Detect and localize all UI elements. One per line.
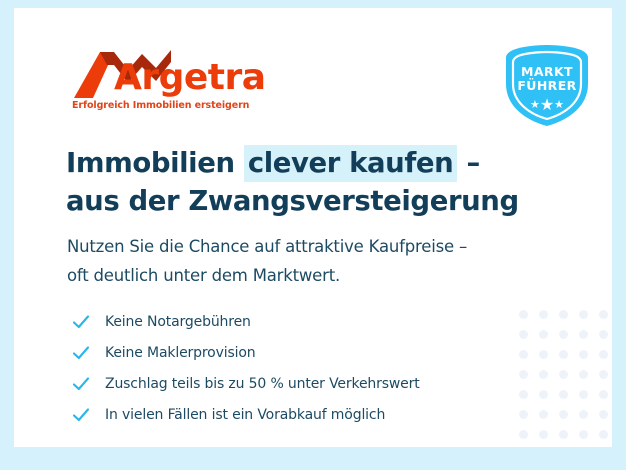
badge-line-2: FÜHRER <box>517 78 576 93</box>
logo-wordmark: Argetra <box>114 60 266 96</box>
argetra-logo[interactable]: Argetra Erfolgreich Immobilien ersteiger… <box>70 48 260 118</box>
banner-card: Argetra Erfolgreich Immobilien ersteiger… <box>14 8 612 447</box>
list-item: In vielen Fällen ist ein Vorabkauf mögli… <box>71 399 521 430</box>
subheadline-line2: oft deutlich unter dem Marktwert. <box>67 261 547 290</box>
grid-dot <box>519 430 528 439</box>
check-icon <box>71 374 91 394</box>
badge-stars: ★★★ <box>503 96 591 114</box>
grid-dot <box>579 410 588 419</box>
star-icon-left: ★ <box>530 99 540 111</box>
grid-dot <box>559 390 568 399</box>
list-item: Keine Notargebühren <box>71 306 521 337</box>
grid-dot <box>559 350 568 359</box>
grid-dot <box>579 390 588 399</box>
grid-dot <box>559 430 568 439</box>
list-item: Keine Maklerprovision <box>71 337 521 368</box>
list-item-label: Keine Maklerprovision <box>105 345 256 361</box>
headline-line1-after: – <box>457 147 480 179</box>
badge-line-1: MARKT <box>521 64 573 79</box>
grid-dot <box>599 430 608 439</box>
grid-dot <box>579 350 588 359</box>
headline-line2: aus der Zwangsversteigerung <box>66 182 536 220</box>
grid-dot <box>579 370 588 379</box>
subheadline: Nutzen Sie die Chance auf attraktive Kau… <box>67 232 547 290</box>
promo-banner: Argetra Erfolgreich Immobilien ersteiger… <box>0 0 626 470</box>
grid-dot <box>599 350 608 359</box>
logo-tagline: Erfolgreich Immobilien ersteigern <box>72 100 249 111</box>
check-icon <box>71 405 91 425</box>
headline-line1-before: Immobilien <box>66 147 244 179</box>
list-item-label: Zuschlag teils bis zu 50 % unter Verkehr… <box>105 376 420 392</box>
grid-dot <box>599 410 608 419</box>
check-icon <box>71 343 91 363</box>
grid-dot <box>539 310 548 319</box>
grid-dot <box>599 370 608 379</box>
grid-dot <box>579 330 588 339</box>
grid-dot <box>599 330 608 339</box>
grid-dot <box>539 410 548 419</box>
grid-dot <box>539 370 548 379</box>
grid-dot <box>559 370 568 379</box>
list-item-label: In vielen Fällen ist ein Vorabkauf mögli… <box>105 407 385 423</box>
dot-grid-decoration <box>519 310 612 447</box>
grid-dot <box>539 390 548 399</box>
headline: Immobilien clever kaufen – aus der Zwang… <box>66 144 536 220</box>
list-item-label: Keine Notargebühren <box>105 314 251 330</box>
grid-dot <box>539 350 548 359</box>
star-icon-right: ★ <box>554 99 564 111</box>
grid-dot <box>559 410 568 419</box>
list-item: Zuschlag teils bis zu 50 % unter Verkehr… <box>71 368 521 399</box>
star-icon-center: ★ <box>540 97 554 114</box>
headline-highlight: clever kaufen <box>244 145 458 182</box>
benefit-list: Keine Notargebühren Keine Maklerprovisio… <box>71 306 521 430</box>
market-leader-badge: MARKTFÜHRER ★★★ <box>503 44 591 128</box>
grid-dot <box>559 330 568 339</box>
grid-dot <box>579 430 588 439</box>
grid-dot <box>559 310 568 319</box>
grid-dot <box>579 310 588 319</box>
subheadline-line1: Nutzen Sie die Chance auf attraktive Kau… <box>67 232 547 261</box>
grid-dot <box>539 430 548 439</box>
badge-label: MARKTFÜHRER <box>503 65 591 93</box>
check-icon <box>71 312 91 332</box>
grid-dot <box>539 330 548 339</box>
grid-dot <box>599 310 608 319</box>
grid-dot <box>599 390 608 399</box>
